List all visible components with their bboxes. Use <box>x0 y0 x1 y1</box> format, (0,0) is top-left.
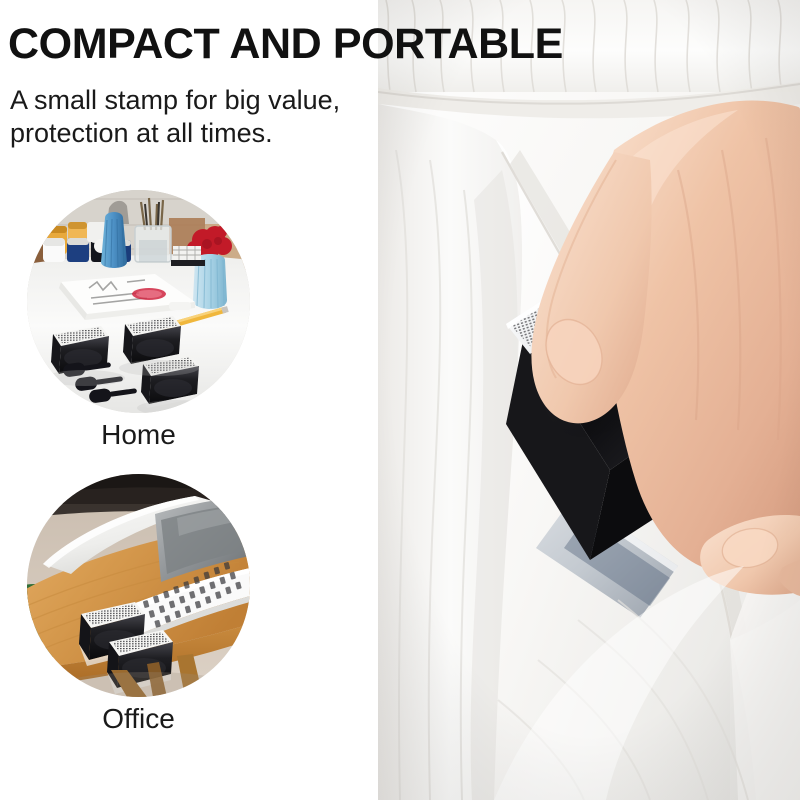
inset-home: Home <box>27 190 250 452</box>
inset-home-image <box>27 190 250 413</box>
page-subtitle: A small stamp for big value, protection … <box>10 84 340 150</box>
inset-office: Office <box>27 474 250 736</box>
inset-office-label: Office <box>27 702 250 736</box>
page-title: COMPACT AND PORTABLE <box>8 19 563 69</box>
product-feature-image: COMPACT AND PORTABLE A small stamp for b… <box>0 0 800 800</box>
hero-photo <box>378 0 800 800</box>
inset-home-label: Home <box>27 418 250 452</box>
inset-office-image <box>27 474 250 697</box>
